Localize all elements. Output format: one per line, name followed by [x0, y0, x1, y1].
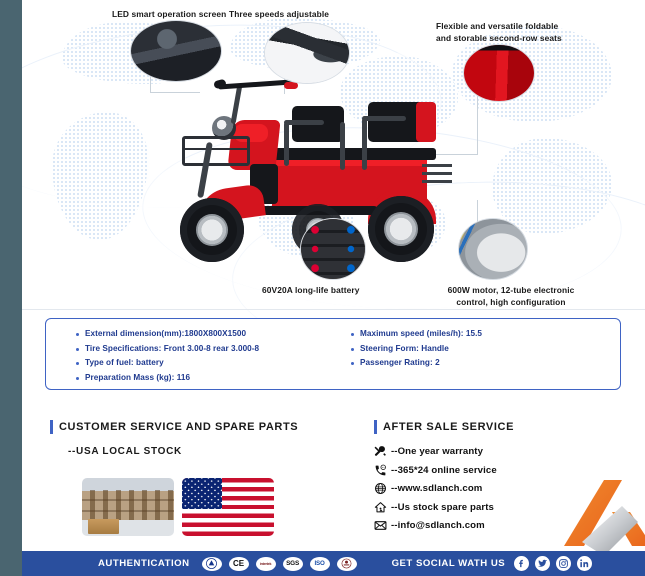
cert-iso-icon: ISO [310, 557, 330, 571]
specifications-box: External dimension(mm):1800X800X1500 Tir… [45, 318, 621, 390]
after-sale-service-list: --One year warranty --365*24 online serv… [374, 445, 634, 532]
product-brochure-page: LED smart operation screen Three speeds … [0, 0, 645, 576]
linkedin-icon[interactable] [577, 556, 592, 571]
instagram-icon[interactable] [556, 556, 571, 571]
callout-image-folding-seats [463, 44, 535, 102]
flag-union [182, 478, 222, 509]
brochure-canvas: LED smart operation screen Three speeds … [22, 0, 645, 576]
rear-wheel [368, 196, 434, 262]
spec-text: External dimension(mm):1800X800X1500 [85, 327, 246, 342]
accent-bar [50, 420, 53, 434]
front-wheel [180, 198, 244, 262]
bullet-dot [351, 333, 354, 336]
customer-service-section: CUSTOMER SERVICE AND SPARE PARTS --USA L… [50, 420, 370, 457]
spec-item: Passenger Rating: 2 [351, 356, 620, 371]
warehouse-photo [82, 478, 174, 536]
hero-divider [22, 309, 645, 310]
globe-icon [374, 482, 387, 495]
bullet-dot [76, 362, 79, 365]
spec-text: Maximum speed (miles/h): 15.5 [360, 327, 482, 342]
wrench-icon [374, 445, 387, 458]
spec-item: Maximum speed (miles/h): 15.5 [351, 327, 620, 342]
bullet-dot [76, 377, 79, 380]
spec-item: Tire Specifications: Front 3.00-8 rear 3… [76, 342, 333, 357]
callout-image-motor [458, 218, 528, 280]
callout-label-folding-seats: Flexible and versatile foldable and stor… [436, 20, 562, 44]
left-edge-band [0, 0, 22, 576]
spec-text: Steering Form: Handle [360, 342, 449, 357]
spec-column-left: External dimension(mm):1800X800X1500 Tir… [46, 327, 333, 389]
callout-label-battery: 60V20A long-life battery [262, 284, 360, 296]
callout-image-three-speeds [264, 22, 350, 84]
social-icons [514, 556, 592, 571]
stock-images [82, 478, 274, 536]
service-item-spare-parts: --Us stock spare parts [374, 501, 634, 514]
certification-badges: CE intertek SGS ISO [202, 557, 357, 571]
callout-image-battery [300, 218, 366, 280]
service-item-text: --365*24 online service [391, 465, 497, 476]
after-sale-service-title: AFTER SALE SERVICE [383, 421, 514, 433]
service-item-email: --info@sdlanch.com [374, 519, 634, 532]
callout-label-motor: 600W motor, 12-tube electronic control, … [421, 284, 601, 308]
spec-item: External dimension(mm):1800X800X1500 [76, 327, 333, 342]
headset-icon [374, 464, 387, 477]
usa-local-stock-subtitle: --USA LOCAL STOCK [68, 446, 370, 457]
service-item-website: --www.sdlanch.com [374, 482, 634, 495]
after-sale-service-section: AFTER SALE SERVICE --One year warranty [374, 420, 634, 532]
social-label: GET SOCIAL WATH US [392, 558, 506, 569]
envelope-icon [374, 519, 387, 532]
callout-label-led-screen: LED smart operation screen [112, 8, 226, 20]
cert-seal-icon [337, 557, 357, 571]
spec-text: Passenger Rating: 2 [360, 356, 440, 371]
home-icon [374, 501, 387, 514]
service-item-text: --www.sdlanch.com [391, 483, 482, 494]
spec-item: Steering Form: Handle [351, 342, 620, 357]
after-sale-service-header: AFTER SALE SERVICE [374, 420, 634, 434]
bullet-dot [76, 348, 79, 351]
customer-service-header: CUSTOMER SERVICE AND SPARE PARTS [50, 420, 370, 434]
spec-item: Type of fuel: battery [76, 356, 333, 371]
bullet-dot [351, 362, 354, 365]
callout-image-led-screen [130, 20, 222, 82]
spec-column-right: Maximum speed (miles/h): 15.5 Steering F… [333, 327, 620, 389]
cert-intertek-icon: intertek [256, 557, 276, 571]
service-item-text: --One year warranty [391, 446, 483, 457]
cert-ce-icon: CE [229, 557, 249, 571]
bullet-dot [351, 348, 354, 351]
cert-emblem-icon [202, 557, 222, 571]
service-item-warranty: --One year warranty [374, 445, 634, 458]
facebook-icon[interactable] [514, 556, 529, 571]
footer-bar: AUTHENTICATION CE intertek SGS ISO GET S… [22, 551, 645, 576]
accent-bar [374, 420, 377, 434]
hero-product-section: LED smart operation screen Three speeds … [22, 0, 645, 310]
usa-flag-image [182, 478, 274, 536]
callout-label-three-speeds: Three speeds adjustable [229, 8, 329, 20]
bullet-dot [76, 333, 79, 336]
twitter-icon[interactable] [535, 556, 550, 571]
spec-text: Tire Specifications: Front 3.00-8 rear 3… [85, 342, 259, 357]
service-item-online: --365*24 online service [374, 464, 634, 477]
customer-service-title: CUSTOMER SERVICE AND SPARE PARTS [59, 421, 298, 433]
spec-text: Preparation Mass (kg): 116 [85, 371, 190, 386]
service-item-text: --info@sdlanch.com [391, 520, 485, 531]
spec-text: Type of fuel: battery [85, 356, 164, 371]
cert-sgs-icon: SGS [283, 557, 303, 571]
service-item-text: --Us stock spare parts [391, 502, 494, 513]
authentication-label: AUTHENTICATION [98, 558, 190, 569]
spec-item: Preparation Mass (kg): 116 [76, 371, 333, 386]
